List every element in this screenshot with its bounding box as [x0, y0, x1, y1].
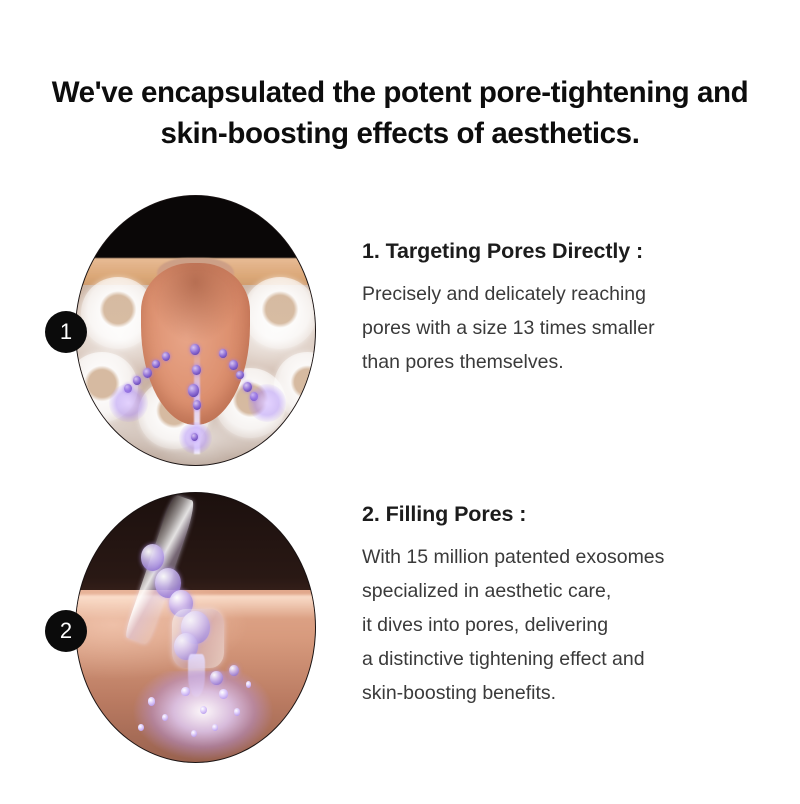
exosome-dot — [190, 344, 200, 355]
exosome-dot — [188, 384, 199, 396]
exosome-dot — [192, 365, 201, 375]
headline-line-1: We've encapsulated the potent pore-tight… — [0, 72, 800, 113]
exosome-dot — [152, 360, 159, 368]
exosome-burst — [129, 671, 277, 763]
exosome-dot — [191, 433, 198, 441]
figure-wrap-2: 2 — [75, 492, 316, 763]
beam-glow — [248, 384, 286, 422]
benefit-text-1: 1. Targeting Pores Directly : Precisely … — [362, 237, 772, 379]
page-title: We've encapsulated the potent pore-tight… — [0, 72, 800, 154]
exosome-dot — [193, 400, 201, 409]
body-line: With 15 million patented exosomes — [362, 540, 772, 574]
pore-illustration — [76, 196, 315, 465]
sparkle-dot — [200, 706, 207, 714]
exosome-dot — [229, 360, 238, 370]
body-line: Precisely and delicately reaching — [362, 277, 772, 311]
step-body-1: Precisely and delicately reaching pores … — [362, 277, 772, 379]
step-body-2: With 15 million patented exosomes specia… — [362, 540, 772, 710]
exosome-dot — [236, 371, 244, 380]
step-title-2: 2. Filling Pores : — [362, 500, 772, 528]
pore-closeup-image — [75, 195, 316, 466]
exosome-sphere — [210, 671, 223, 686]
body-line: skin-boosting benefits. — [362, 676, 772, 710]
figure-wrap-1: 1 — [75, 195, 316, 466]
benefit-text-2: 2. Filling Pores : With 15 million paten… — [362, 500, 772, 710]
step-badge-2: 2 — [45, 610, 87, 652]
sparkle-dot — [162, 714, 168, 721]
body-line: a distinctive tightening effect and — [362, 642, 772, 676]
sparkle-dot — [181, 687, 190, 697]
body-line: it dives into pores, delivering — [362, 608, 772, 642]
benefit-row-2: 2 2. Filling Pores : With 15 million pat… — [0, 492, 800, 764]
exosome-dot — [133, 376, 141, 385]
sparkle-dot — [138, 724, 144, 730]
body-line: pores with a size 13 times smaller — [362, 311, 772, 345]
exosome-dot — [219, 349, 227, 358]
exosome-sphere — [141, 544, 165, 571]
step-title-1: 1. Targeting Pores Directly : — [362, 237, 772, 265]
headline-line-2: skin-boosting effects of aesthetics. — [0, 113, 800, 154]
exosome-injection-image — [75, 492, 316, 763]
sparkle-dot — [212, 724, 218, 730]
sparkle-dot — [246, 681, 252, 687]
injection-illustration — [76, 493, 315, 762]
product-benefits-infographic: We've encapsulated the potent pore-tight… — [0, 0, 800, 804]
sparkle-dot — [234, 708, 241, 716]
sparkle-dot — [219, 689, 227, 698]
body-line: specialized in aesthetic care, — [362, 574, 772, 608]
step-badge-1: 1 — [45, 311, 87, 353]
body-line: than pores themselves. — [362, 345, 772, 379]
beam-glow — [109, 384, 147, 422]
benefit-row-1: 1 1. Targeting Pores Directly : Precisel… — [0, 195, 800, 470]
pore-ring-icon — [243, 277, 316, 350]
